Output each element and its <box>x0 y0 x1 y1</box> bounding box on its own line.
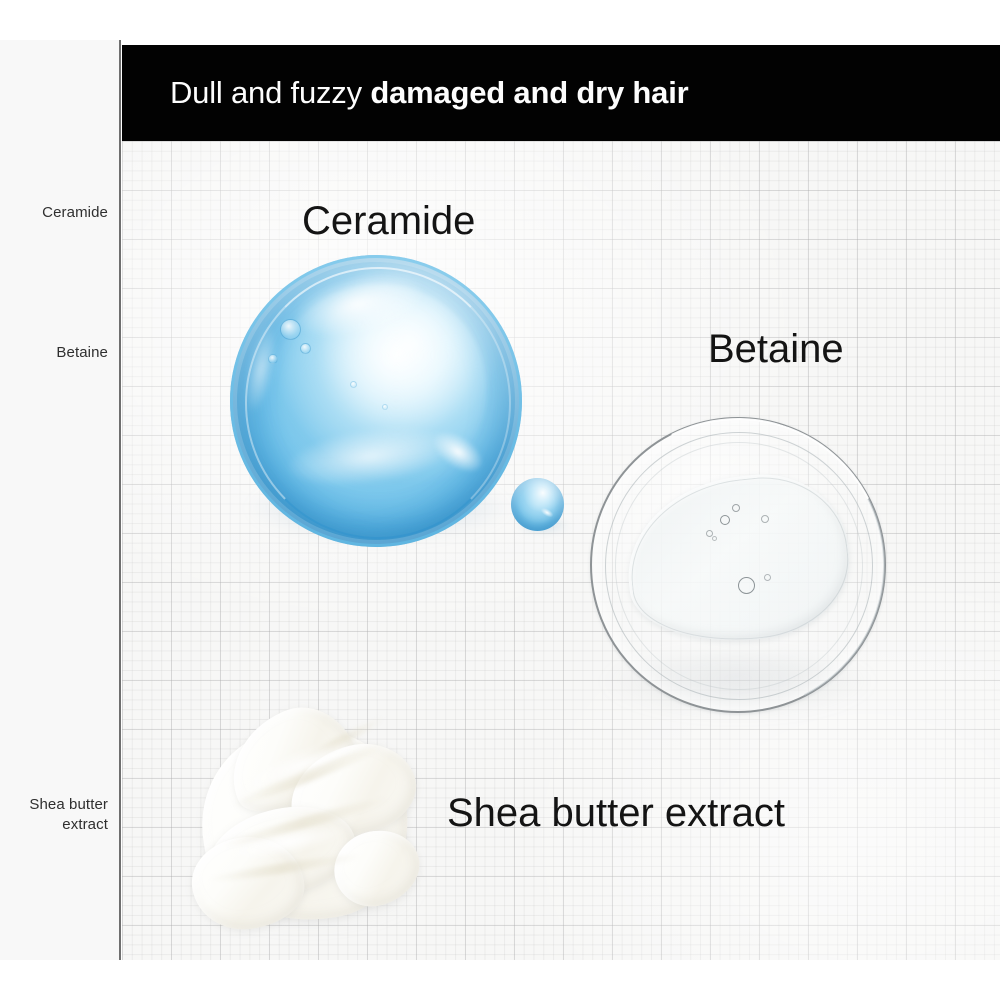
droplet-bubble-icon <box>300 343 311 354</box>
mini-droplet-body <box>511 478 564 531</box>
caption-ceramide: Ceramide <box>302 197 475 245</box>
page-title: Dull and fuzzy damaged and dry hair <box>170 74 688 112</box>
gel-bubble-icon <box>738 577 755 594</box>
page-title-regular: Dull and fuzzy <box>170 75 370 110</box>
ingredient-showcase-panel: Ceramide Betaine Shea butter extract <box>122 141 1000 960</box>
mini-droplet-highlight <box>539 506 555 519</box>
petri-dish-rim <box>590 417 886 713</box>
droplet-bubble-icon <box>280 319 301 340</box>
droplet-bubble-icon <box>350 381 357 388</box>
droplet-bubble-icon <box>382 404 388 410</box>
sidebar-divider <box>119 40 121 960</box>
betaine-petri-dish-graphic <box>590 417 886 713</box>
ceramide-droplet-graphic <box>230 255 522 547</box>
gel-bubble-icon <box>732 504 740 512</box>
caption-shea-butter-extract: Shea butter extract <box>447 789 785 837</box>
ceramide-mini-droplet-graphic <box>511 478 564 531</box>
header-banner: Dull and fuzzy damaged and dry hair <box>122 45 1000 141</box>
product-ingredient-infographic: Ceramide Betaine Shea butter extract Dul… <box>0 0 1000 1000</box>
caption-betaine: Betaine <box>708 325 844 373</box>
sidebar-item-betaine: Betaine <box>0 343 108 363</box>
sidebar-item-shea-butter-extract: Shea butter extract <box>0 795 108 835</box>
gel-bubble-icon <box>712 536 717 541</box>
gel-bubble-icon <box>764 574 771 581</box>
content-area: Ceramide Betaine Shea butter extract Dul… <box>0 40 1000 960</box>
sidebar-item-ceramide: Ceramide <box>0 203 108 223</box>
shea-butter-cream-graphic <box>184 713 434 943</box>
ingredient-label-sidebar: Ceramide Betaine Shea butter extract <box>0 40 120 960</box>
page-title-bold: damaged and dry hair <box>370 75 688 110</box>
droplet-body <box>230 255 522 547</box>
